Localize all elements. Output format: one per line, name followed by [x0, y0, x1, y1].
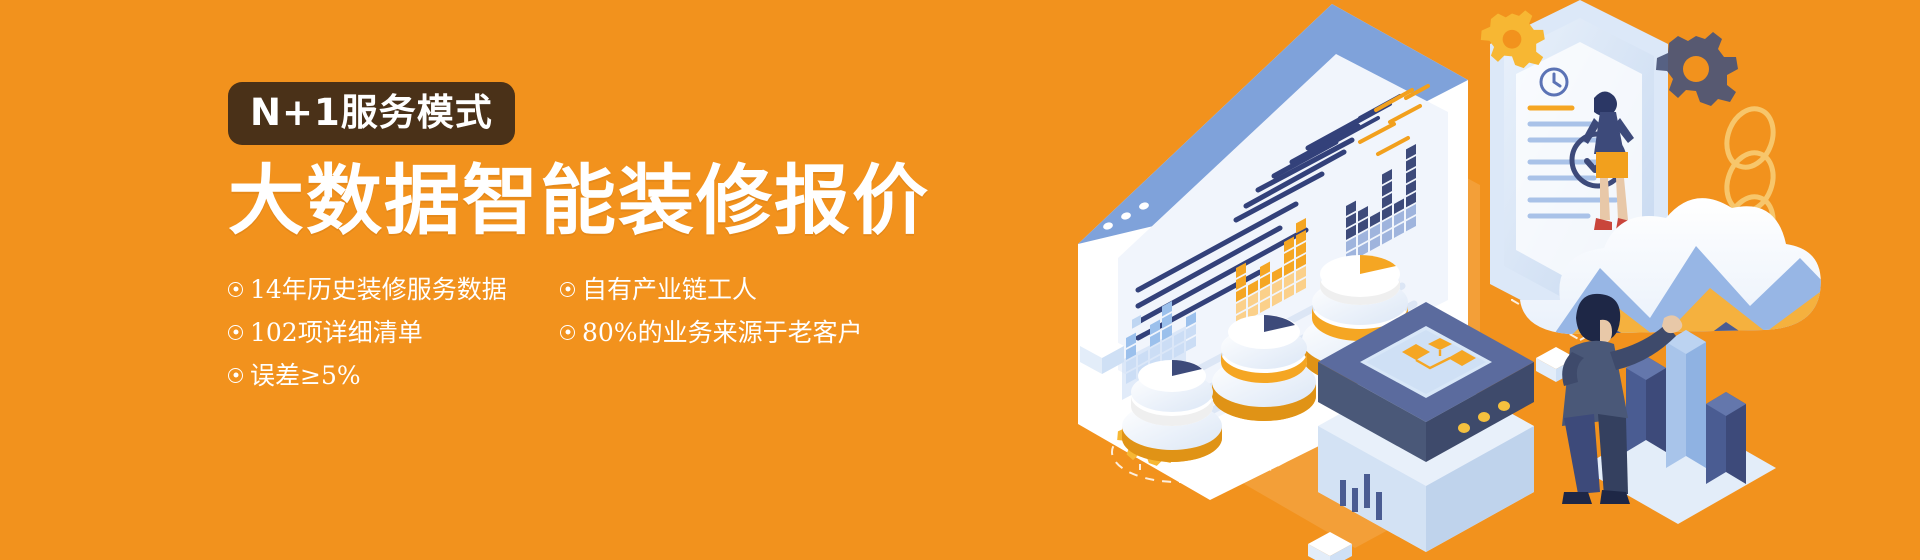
bullseye-icon [228, 368, 243, 383]
page-title: 大数据智能装修报价 [228, 161, 988, 242]
gear-dark [1656, 32, 1738, 106]
isometric-illustration [1060, 0, 1920, 560]
bullseye-icon [560, 282, 575, 297]
list-item-label: 80%的业务来源于老客户 [582, 320, 863, 345]
list-item-label: 102项详细清单 [250, 320, 423, 345]
list-item: 14年历史装修服务数据 [228, 268, 546, 311]
bullseye-icon [228, 282, 243, 297]
list-item-label: 误差≥5% [250, 363, 361, 388]
list-item: 80%的业务来源于老客户 [560, 311, 988, 354]
feature-bullet-list: 14年历史装修服务数据 自有产业链工人 102项详细清单 80%的业务来源于老客… [228, 268, 988, 397]
bullseye-icon [560, 325, 575, 340]
list-item-label: 自有产业链工人 [582, 277, 757, 302]
service-model-badge: N+1服务模式 [228, 82, 515, 145]
list-item: 自有产业链工人 [560, 268, 988, 311]
promo-banner: N+1服务模式 大数据智能装修报价 14年历史装修服务数据 自有产业链工人 10… [0, 0, 1920, 560]
bullseye-icon [228, 325, 243, 340]
list-item: 102项详细清单 [228, 311, 546, 354]
list-item-label: 14年历史装修服务数据 [250, 277, 507, 302]
list-item: 误差≥5% [228, 354, 546, 397]
banner-text-block: N+1服务模式 大数据智能装修报价 14年历史装修服务数据 自有产业链工人 10… [228, 82, 988, 397]
